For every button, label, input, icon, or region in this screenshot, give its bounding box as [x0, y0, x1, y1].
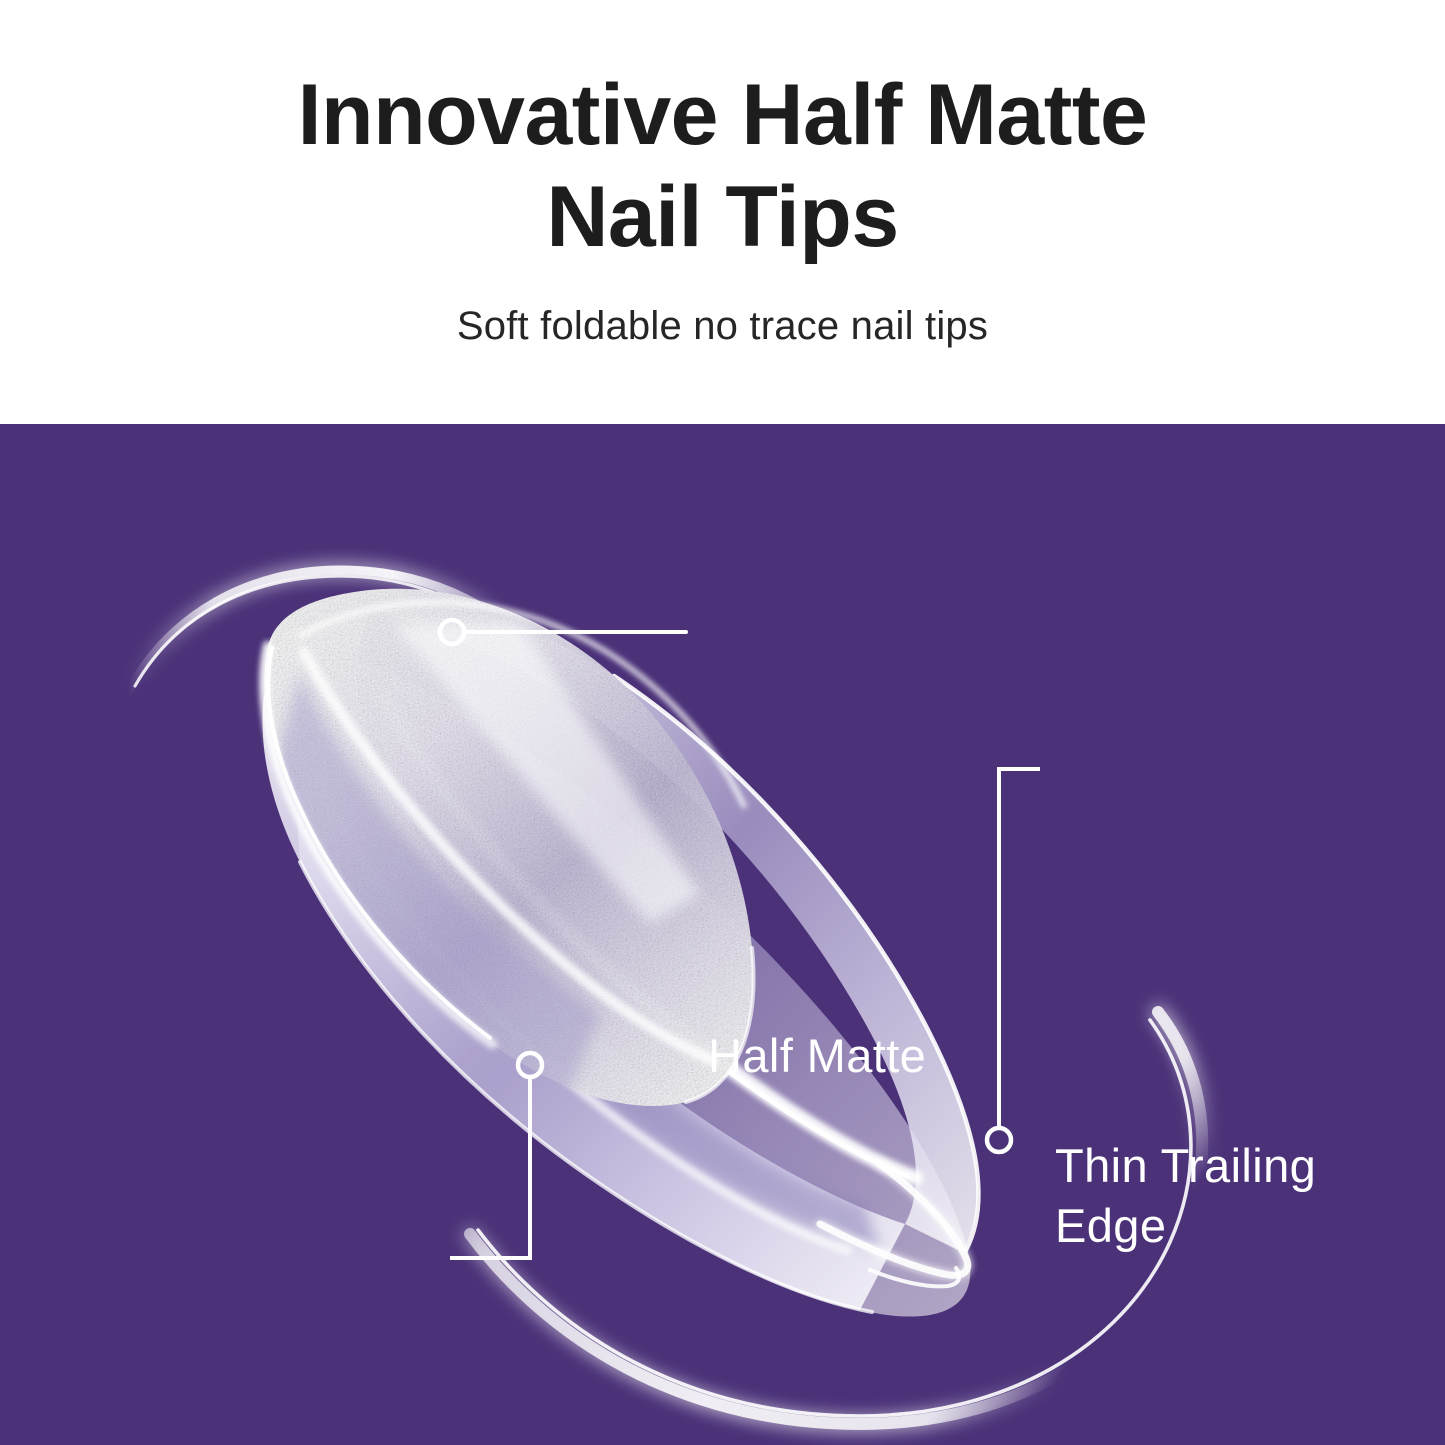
header-band: Innovative Half Matte Nail Tips Soft fol… [0, 0, 1445, 424]
connector-thin-trailing-edge [987, 769, 1040, 1152]
page-subtitle: Soft foldable no trace nail tips [0, 300, 1445, 352]
callout-label-half-matte: Half Matte [708, 1026, 926, 1086]
infographic-page: Innovative Half Matte Nail Tips Soft fol… [0, 0, 1445, 1445]
marker-thin-trailing-edge [987, 1128, 1011, 1152]
page-title: Innovative Half Matte Nail Tips [0, 64, 1445, 268]
product-stage: Half Matte Thin Trailing Edge No Crease [0, 424, 1445, 1445]
callout-label-thin-trailing-edge: Thin Trailing Edge [1055, 1136, 1316, 1256]
product-illustration [0, 424, 1445, 1445]
